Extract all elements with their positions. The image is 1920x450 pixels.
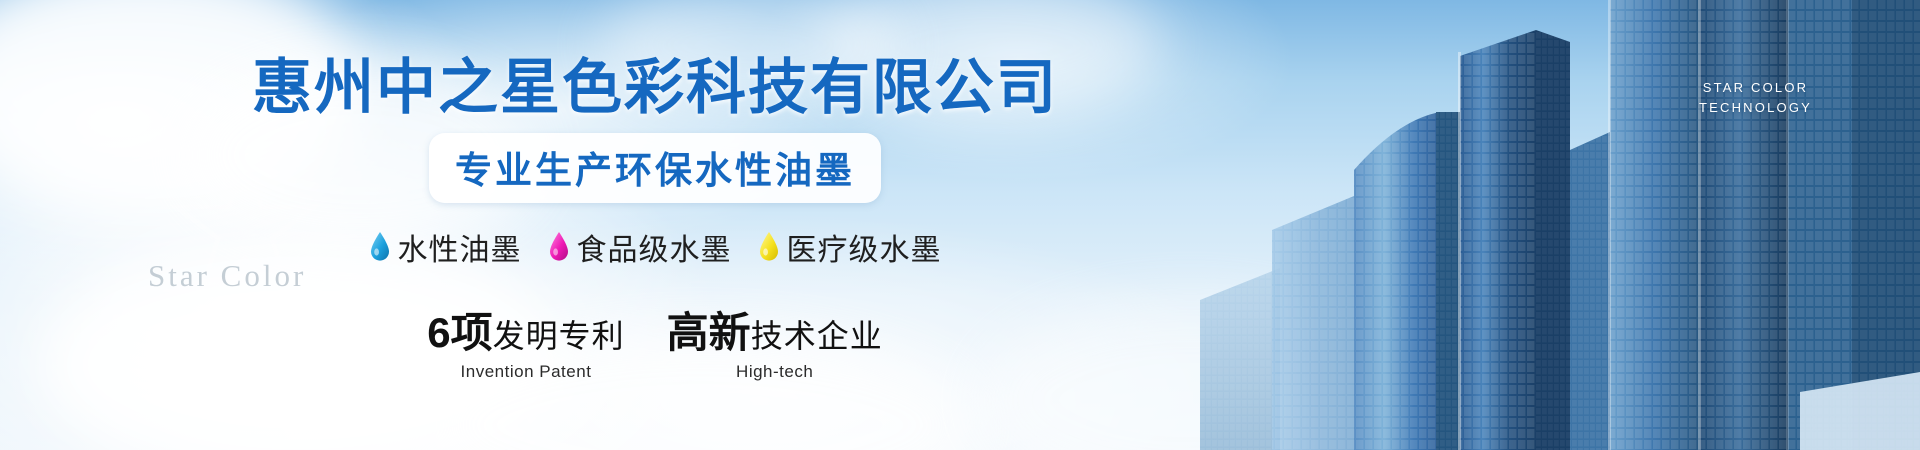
feature-list: 水性油墨 食品级水墨 (369, 225, 942, 269)
feature-label: 食品级水墨 (577, 225, 732, 269)
water-drop-icon (758, 232, 780, 262)
badge-main-text: 高新 技术企业 (667, 299, 883, 360)
company-title: 惠州中之星色彩科技有限公司 (252, 56, 1058, 119)
badge-invention-patent: 6项 发明专利 Invention Patent (427, 299, 624, 382)
water-drop-icon (369, 232, 391, 262)
feature-item-food-grade-ink: 食品级水墨 (548, 225, 732, 269)
feature-item-medical-grade-ink: 医疗级水墨 (758, 225, 942, 269)
feature-label: 医疗级水墨 (787, 225, 942, 269)
badge-strong-text: 高新 (667, 299, 751, 360)
badge-high-tech: 高新 技术企业 High-tech (667, 299, 883, 382)
badge-english-text: High-tech (736, 362, 813, 382)
feature-item-water-based-ink: 水性油墨 (369, 225, 522, 269)
badge-rest-text: 技术企业 (751, 311, 883, 357)
subtitle-pill: 专业生产环保水性油墨 (429, 133, 881, 203)
badge-rest-text: 发明专利 (493, 311, 625, 357)
badge-main-text: 6项 发明专利 (427, 299, 624, 360)
subtitle-text: 专业生产环保水性油墨 (455, 140, 855, 194)
banner-content: 惠州中之星色彩科技有限公司 专业生产环保水性油墨 水性油 (0, 0, 1310, 450)
water-drop-icon (548, 232, 570, 262)
badge-english-text: Invention Patent (461, 362, 592, 382)
credential-badges: 6项 发明专利 Invention Patent 高新 技术企业 High-te… (427, 299, 882, 382)
badge-strong-text: 6项 (427, 299, 492, 360)
promo-banner: Star Color (0, 0, 1920, 450)
feature-label: 水性油墨 (398, 225, 522, 269)
